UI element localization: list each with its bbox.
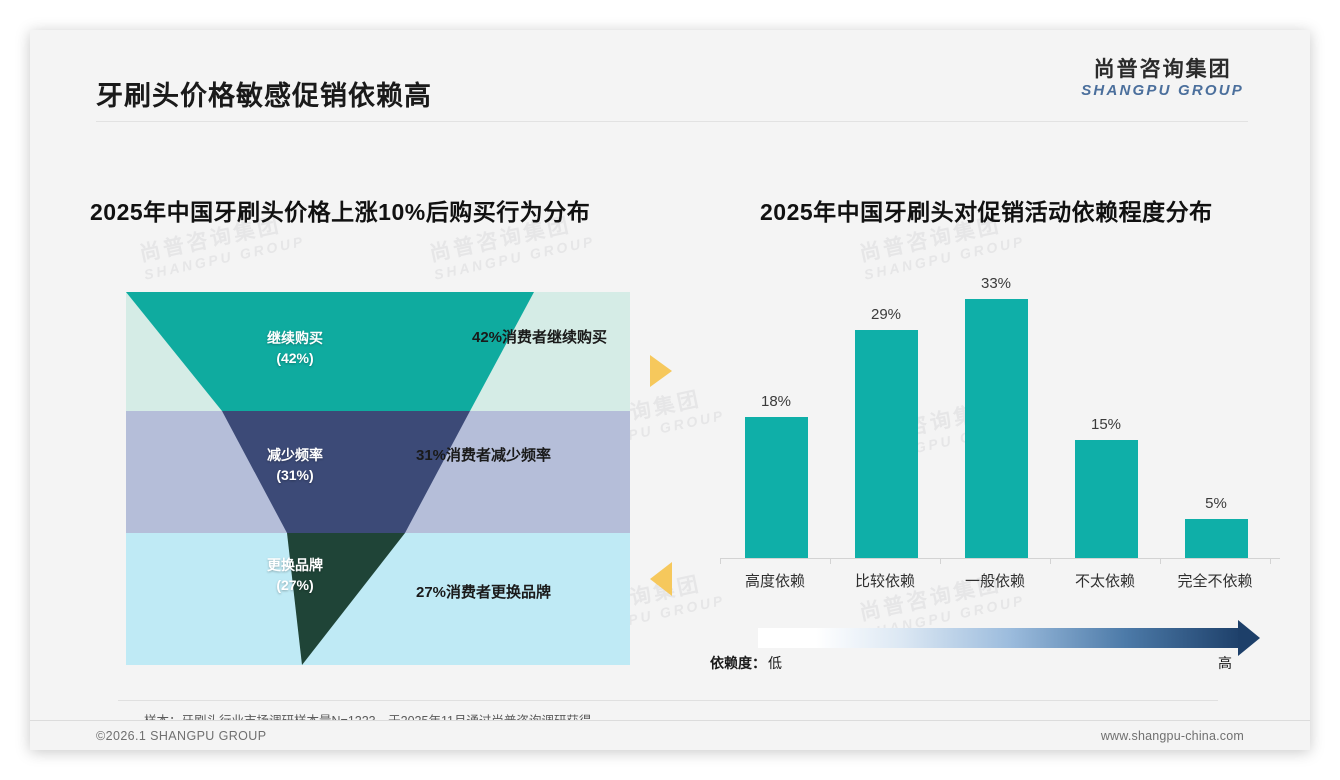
funnel-chart: 继续购买 (42%) 减少频率 (31%) 更换品牌 (27%) 42%消费者继… (30, 30, 710, 750)
right-chart-title: 2025年中国牙刷头对促销活动依赖程度分布 (760, 193, 1213, 227)
bar-rect (965, 299, 1028, 558)
dependency-bar-chart: 18% 29% 33% 15% 5% (710, 260, 1290, 580)
funnel-label-2-name: 减少频率 (267, 447, 323, 463)
funnel-label-1-value: (42%) (276, 350, 313, 366)
legend-low-label: 低 (768, 653, 782, 673)
bar-category-label: 一般依赖 (940, 570, 1050, 591)
axis-tick (1050, 558, 1051, 564)
funnel-label-1-name: 继续购买 (267, 330, 323, 346)
website-link[interactable]: www.shangpu-china.com (1101, 729, 1244, 743)
bar-rect (1185, 519, 1248, 558)
dependency-gradient-legend: 依赖度： 低 高 (710, 620, 1290, 680)
bar-value-label: 18% (761, 393, 791, 410)
funnel-panel-text-2: 31%消费者减少频率 (416, 444, 551, 465)
arrow-right-icon (650, 355, 672, 387)
bar-value-label: 33% (981, 275, 1011, 292)
logo-chinese-text: 尚普咨询集团 (1081, 58, 1244, 82)
bar-column: 33% (948, 260, 1044, 558)
bar-category-label: 不太依赖 (1050, 570, 1160, 591)
funnel-label-1: 继续购买 (42%) (235, 328, 355, 369)
legend-title: 依赖度： (710, 653, 766, 673)
funnel-panel-text-1: 42%消费者继续购买 (472, 326, 607, 347)
bar-column: 5% (1168, 260, 1264, 558)
bar-value-label: 5% (1205, 495, 1227, 512)
slide-canvas: 牙刷头价格敏感促销依赖高 尚普咨询集团 SHANGPU GROUP 尚普咨询集团… (30, 30, 1310, 750)
bar-rect (745, 417, 808, 558)
bar-category-label: 高度依赖 (720, 570, 830, 591)
gradient-arrow-icon (1238, 620, 1260, 656)
arrow-left-icon (650, 562, 672, 596)
bar-column: 29% (838, 260, 934, 558)
legend-high-label: 高 (1218, 653, 1232, 673)
axis-tick (940, 558, 941, 564)
axis-tick (830, 558, 831, 564)
funnel-label-2: 减少频率 (31%) (235, 445, 355, 486)
funnel-shape (30, 30, 710, 750)
bar-rect (1075, 440, 1138, 558)
slide-footer: ©2026.1 SHANGPU GROUP www.shangpu-china.… (30, 721, 1310, 750)
bar-column: 18% (728, 260, 824, 558)
gradient-bar (758, 628, 1242, 648)
bar-value-label: 29% (871, 306, 901, 323)
brand-logo: 尚普咨询集团 SHANGPU GROUP (1081, 58, 1244, 100)
bar-column: 15% (1058, 260, 1154, 558)
bar-value-label: 15% (1091, 416, 1121, 433)
funnel-panel-text-3: 27%消费者更换品牌 (416, 581, 551, 602)
funnel-label-3-name: 更换品牌 (267, 557, 323, 573)
bar-category-label: 比较依赖 (830, 570, 940, 591)
funnel-label-3: 更换品牌 (27%) (235, 555, 355, 596)
logo-english-text: SHANGPU GROUP (1081, 82, 1244, 100)
funnel-segment-3 (287, 533, 405, 665)
funnel-label-2-value: (31%) (276, 467, 313, 483)
note-divider (118, 700, 1218, 701)
axis-tick (720, 558, 721, 564)
copyright-text: ©2026.1 SHANGPU GROUP (96, 729, 266, 743)
bar-category-label: 完全不依赖 (1160, 570, 1270, 591)
bar-rect (855, 330, 918, 558)
axis-tick (1160, 558, 1161, 564)
bar-axis-line (720, 558, 1280, 559)
bar-plot-area: 18% 29% 33% 15% 5% (720, 260, 1280, 558)
axis-tick (1270, 558, 1271, 564)
funnel-label-3-value: (27%) (276, 577, 313, 593)
